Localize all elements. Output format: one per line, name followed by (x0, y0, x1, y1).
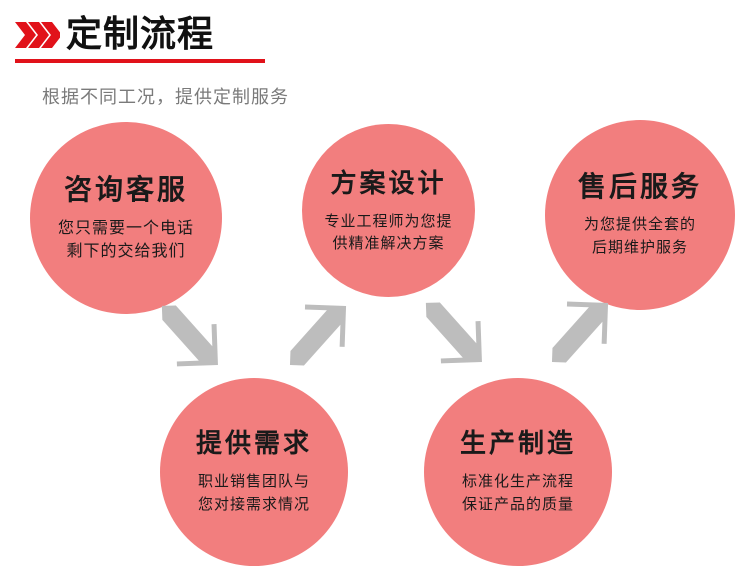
flow-node-desc-line1: 职业销售团队与 (198, 470, 310, 493)
flow-node-desc-line1: 您只需要一个电话 (58, 216, 194, 239)
flow-node-after-sales[interactable]: 售后服务 为您提供全套的 后期维护服务 (545, 120, 735, 310)
flow-node-desc-line2: 您对接需求情况 (198, 493, 310, 516)
arrow-down-right-icon (422, 300, 484, 370)
flow-node-title: 提供需求 (196, 428, 312, 460)
flow-node-desc-line1: 标准化生产流程 (462, 470, 574, 493)
flow-node-desc-line2: 剩下的交给我们 (66, 239, 185, 262)
flow-node-desc-line2: 保证产品的质量 (462, 493, 574, 516)
flow-node-desc-line2: 供精准解决方案 (332, 232, 444, 254)
flow-node-design[interactable]: 方案设计 专业工程师为您提 供精准解决方案 (302, 124, 475, 297)
flow-node-title: 生产制造 (460, 428, 576, 460)
page-subtitle: 根据不同工况，提供定制服务 (42, 83, 289, 109)
flow-node-title: 售后服务 (578, 171, 702, 203)
flow-node-requirements[interactable]: 提供需求 职业销售团队与 您对接需求情况 (160, 378, 348, 566)
flow-node-consult[interactable]: 咨询客服 您只需要一个电话 剩下的交给我们 (30, 122, 222, 314)
flow-node-desc-line1: 专业工程师为您提 (324, 210, 452, 232)
page-header: 定制流程 根据不同工况，提供定制服务 (0, 0, 750, 76)
flow-node-desc-line1: 为您提供全套的 (584, 213, 696, 236)
flow-node-desc-line2: 后期维护服务 (592, 236, 688, 259)
flow-node-title: 咨询客服 (64, 174, 188, 206)
arrow-up-right-icon (548, 297, 612, 369)
arrow-up-right-icon (286, 300, 350, 372)
triple-chevron-right-icon (14, 19, 60, 51)
title-underline (15, 59, 265, 63)
arrow-down-right-icon (158, 303, 220, 373)
page-title: 定制流程 (66, 12, 214, 56)
flow-node-title: 方案设计 (330, 168, 446, 200)
flow-node-manufacturing[interactable]: 生产制造 标准化生产流程 保证产品的质量 (424, 378, 612, 566)
diagram-canvas: 定制流程 根据不同工况，提供定制服务 咨询客服 您只需要一个电话 剩下的交给我们… (0, 0, 750, 576)
